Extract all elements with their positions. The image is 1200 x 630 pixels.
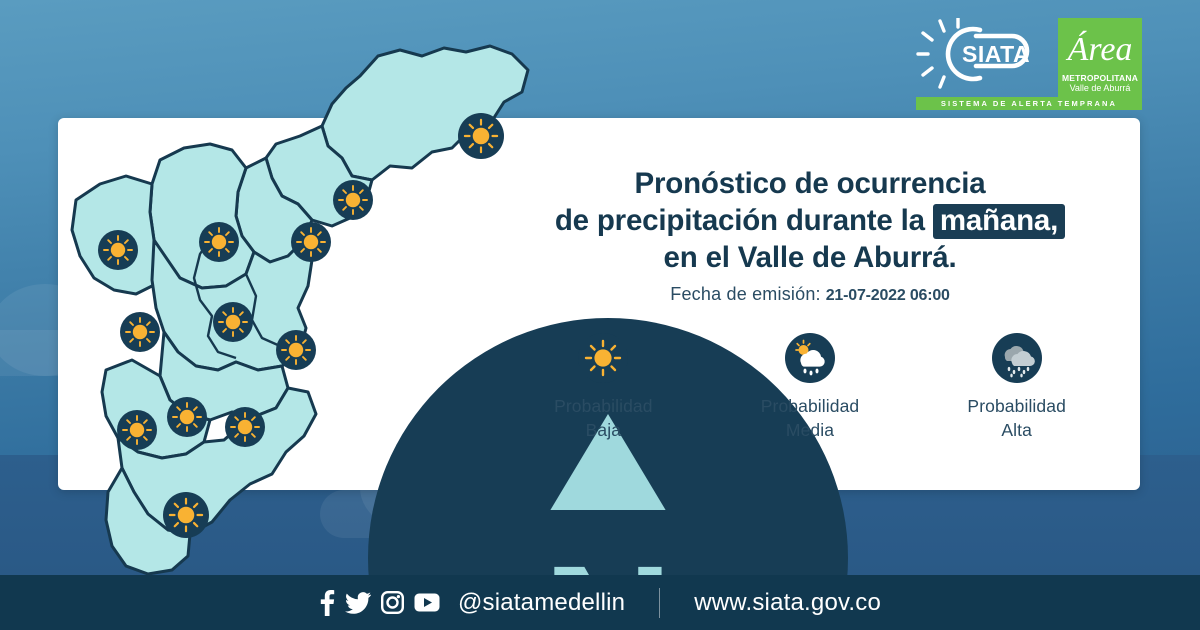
map-marker[interactable]: [167, 397, 207, 437]
emission-date: Fecha de emisión:21-07-2022 06:00: [500, 284, 1120, 305]
website-url[interactable]: www.siata.gov.co: [694, 589, 881, 617]
legend-label-media: Probabilidad Media: [761, 394, 860, 442]
legend-item-alta: Probabilidad Alta: [913, 333, 1120, 442]
cloud-rain-icon: [992, 333, 1042, 383]
infographic-canvas: SIATA Área METROPOLITANA Valle de Aburrá…: [0, 0, 1200, 630]
footer-bar: @siatamedellin www.siata.gov.co: [0, 575, 1200, 630]
svg-text:SIATA: SIATA: [962, 41, 1030, 67]
headline-line3: en el Valle de Aburrá.: [500, 239, 1120, 276]
twitter-icon[interactable]: [345, 592, 371, 614]
sun-icon: [578, 333, 628, 383]
north-compass-icon: N: [368, 288, 418, 338]
area-line1: METROPOLITANA: [1062, 73, 1138, 83]
legend-alta-line1: Probabilidad: [967, 394, 1066, 418]
legend-label-alta: Probabilidad Alta: [967, 394, 1066, 442]
legend-baja-line2: Baja: [554, 418, 653, 442]
map-marker[interactable]: [333, 180, 373, 220]
probability-legend: Probabilidad Baja: [500, 333, 1120, 442]
legend-media-line1: Probabilidad: [761, 394, 860, 418]
legend-alta-line2: Alta: [967, 418, 1066, 442]
map-marker[interactable]: [117, 410, 157, 450]
tagline-text: SISTEMA DE ALERTA TEMPRANA: [941, 99, 1117, 108]
tagline-bar: SISTEMA DE ALERTA TEMPRANA: [916, 97, 1142, 110]
area-script-text: Área: [1066, 31, 1133, 68]
map-marker[interactable]: [163, 492, 209, 538]
legend-media-line2: Media: [761, 418, 860, 442]
area-metropolitana-logo: Área METROPOLITANA Valle de Aburrá: [1058, 18, 1142, 98]
map-marker[interactable]: [225, 407, 265, 447]
legend-baja-line1: Probabilidad: [554, 394, 653, 418]
map-marker[interactable]: [120, 312, 160, 352]
instagram-icon[interactable]: [381, 591, 404, 614]
social-handle[interactable]: @siatamedellin: [458, 589, 625, 617]
facebook-icon[interactable]: [319, 590, 335, 616]
headline-highlight: mañana,: [933, 204, 1065, 239]
legend-item-media: Probabilidad Media: [707, 333, 914, 442]
headline: Pronóstico de ocurrencia de precipitació…: [500, 165, 1120, 276]
social-icons: [319, 590, 440, 616]
map-marker[interactable]: [276, 330, 316, 370]
map-marker[interactable]: [213, 302, 253, 342]
emission-value: 21-07-2022 06:00: [826, 287, 950, 304]
headline-line1: Pronóstico de ocurrencia: [500, 165, 1120, 202]
headline-line2-pre: de precipitación durante la: [555, 204, 933, 237]
legend-item-baja: Probabilidad Baja: [500, 333, 707, 442]
map-marker[interactable]: [291, 222, 331, 262]
brand-logos: SIATA Área METROPOLITANA Valle de Aburrá…: [916, 14, 1142, 110]
youtube-icon[interactable]: [414, 593, 440, 612]
footer-divider: [659, 588, 660, 618]
map-marker[interactable]: [458, 113, 504, 159]
legend-label-baja: Probabilidad Baja: [554, 394, 653, 442]
sun-rain-icon: [785, 333, 835, 383]
emission-label: Fecha de emisión:: [670, 284, 820, 304]
headline-line2: de precipitación durante la mañana,: [500, 202, 1120, 239]
area-line2: Valle de Aburrá: [1070, 83, 1131, 94]
valle-de-aburra-map: N: [60, 40, 540, 580]
map-marker[interactable]: [199, 222, 239, 262]
map-marker[interactable]: [98, 230, 138, 270]
siata-logo: SIATA: [916, 18, 1050, 90]
